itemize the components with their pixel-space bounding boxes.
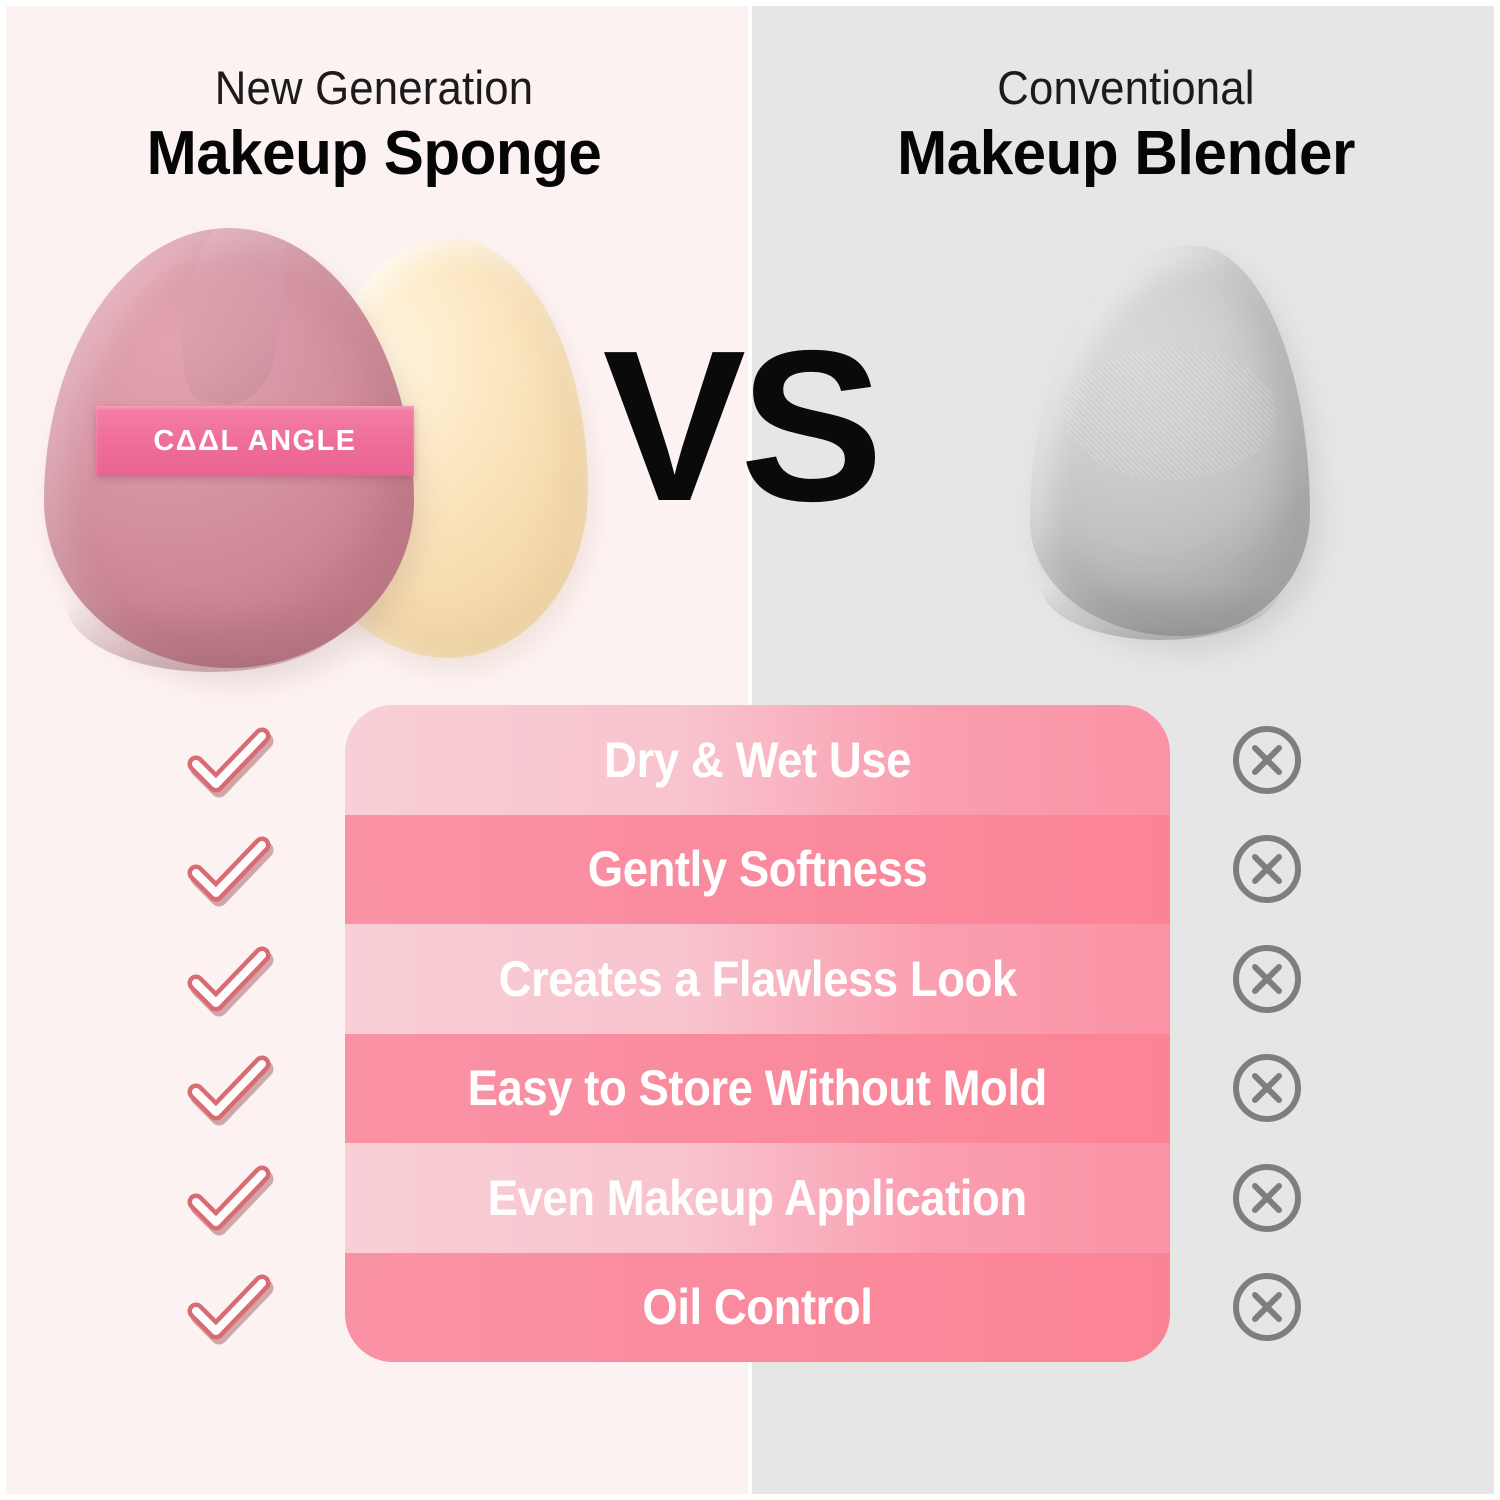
- sponge-check-column: [170, 705, 290, 1362]
- feature-label: Even Makeup Application: [488, 1173, 1027, 1223]
- frame-right: [1494, 0, 1500, 1500]
- frame-top: [0, 0, 1500, 6]
- feature-label: Dry & Wet Use: [604, 735, 911, 785]
- cross-slot-4: [1207, 1034, 1327, 1144]
- feature-row: Dry & Wet Use: [345, 705, 1170, 815]
- check-slot-2: [170, 815, 290, 925]
- check-icon: [182, 1158, 278, 1238]
- cross-slot-5: [1207, 1143, 1327, 1253]
- makeup-sponge-product-image: CΔΔL ANGLE: [30, 228, 590, 678]
- check-icon: [182, 1267, 278, 1347]
- feature-label: Gently Softness: [588, 844, 928, 894]
- right-title: Makeup Blender: [763, 123, 1489, 185]
- cross-slot-6: [1207, 1253, 1327, 1363]
- check-icon: [182, 939, 278, 1019]
- cross-slot-3: [1207, 924, 1327, 1034]
- check-slot-3: [170, 924, 290, 1034]
- feature-label: Oil Control: [642, 1282, 872, 1332]
- frame-left: [0, 0, 6, 1500]
- feature-row: Easy to Store Without Mold: [345, 1034, 1170, 1144]
- check-icon: [182, 1048, 278, 1128]
- feature-row: Gently Softness: [345, 815, 1170, 925]
- left-heading-group: New Generation Makeup Sponge: [0, 64, 748, 185]
- circled-x-icon: [1229, 1160, 1305, 1236]
- circled-x-icon: [1229, 1050, 1305, 1126]
- right-kicker: Conventional: [778, 64, 1474, 111]
- feature-label: Easy to Store Without Mold: [468, 1063, 1047, 1113]
- feature-row: Oil Control: [345, 1253, 1170, 1363]
- feature-row: Creates a Flawless Look: [345, 924, 1170, 1034]
- feature-comparison-card: Dry & Wet Use Gently Softness Creates a …: [345, 705, 1170, 1362]
- left-kicker: New Generation: [26, 64, 722, 111]
- feature-row: Even Makeup Application: [345, 1143, 1170, 1253]
- circled-x-icon: [1229, 722, 1305, 798]
- check-slot-5: [170, 1143, 290, 1253]
- versus-label: VS: [590, 318, 890, 533]
- circled-x-icon: [1229, 941, 1305, 1017]
- check-slot-6: [170, 1253, 290, 1363]
- right-heading-group: Conventional Makeup Blender: [752, 64, 1500, 185]
- feature-label: Creates a Flawless Look: [498, 954, 1016, 1004]
- circled-x-icon: [1229, 831, 1305, 907]
- brand-ribbon-label: CΔΔL ANGLE: [96, 406, 414, 476]
- check-slot-4: [170, 1034, 290, 1144]
- check-icon: [182, 829, 278, 909]
- circled-x-icon: [1229, 1269, 1305, 1345]
- comparison-infographic: New Generation Makeup Sponge Conventiona…: [0, 0, 1500, 1500]
- left-title: Makeup Sponge: [11, 123, 737, 185]
- check-icon: [182, 720, 278, 800]
- check-slot-1: [170, 705, 290, 815]
- brand-name-text: CΔΔL ANGLE: [153, 425, 356, 458]
- cross-slot-2: [1207, 815, 1327, 925]
- frame-bottom: [0, 1494, 1500, 1500]
- cross-slot-1: [1207, 705, 1327, 815]
- blender-cross-column: [1207, 705, 1327, 1362]
